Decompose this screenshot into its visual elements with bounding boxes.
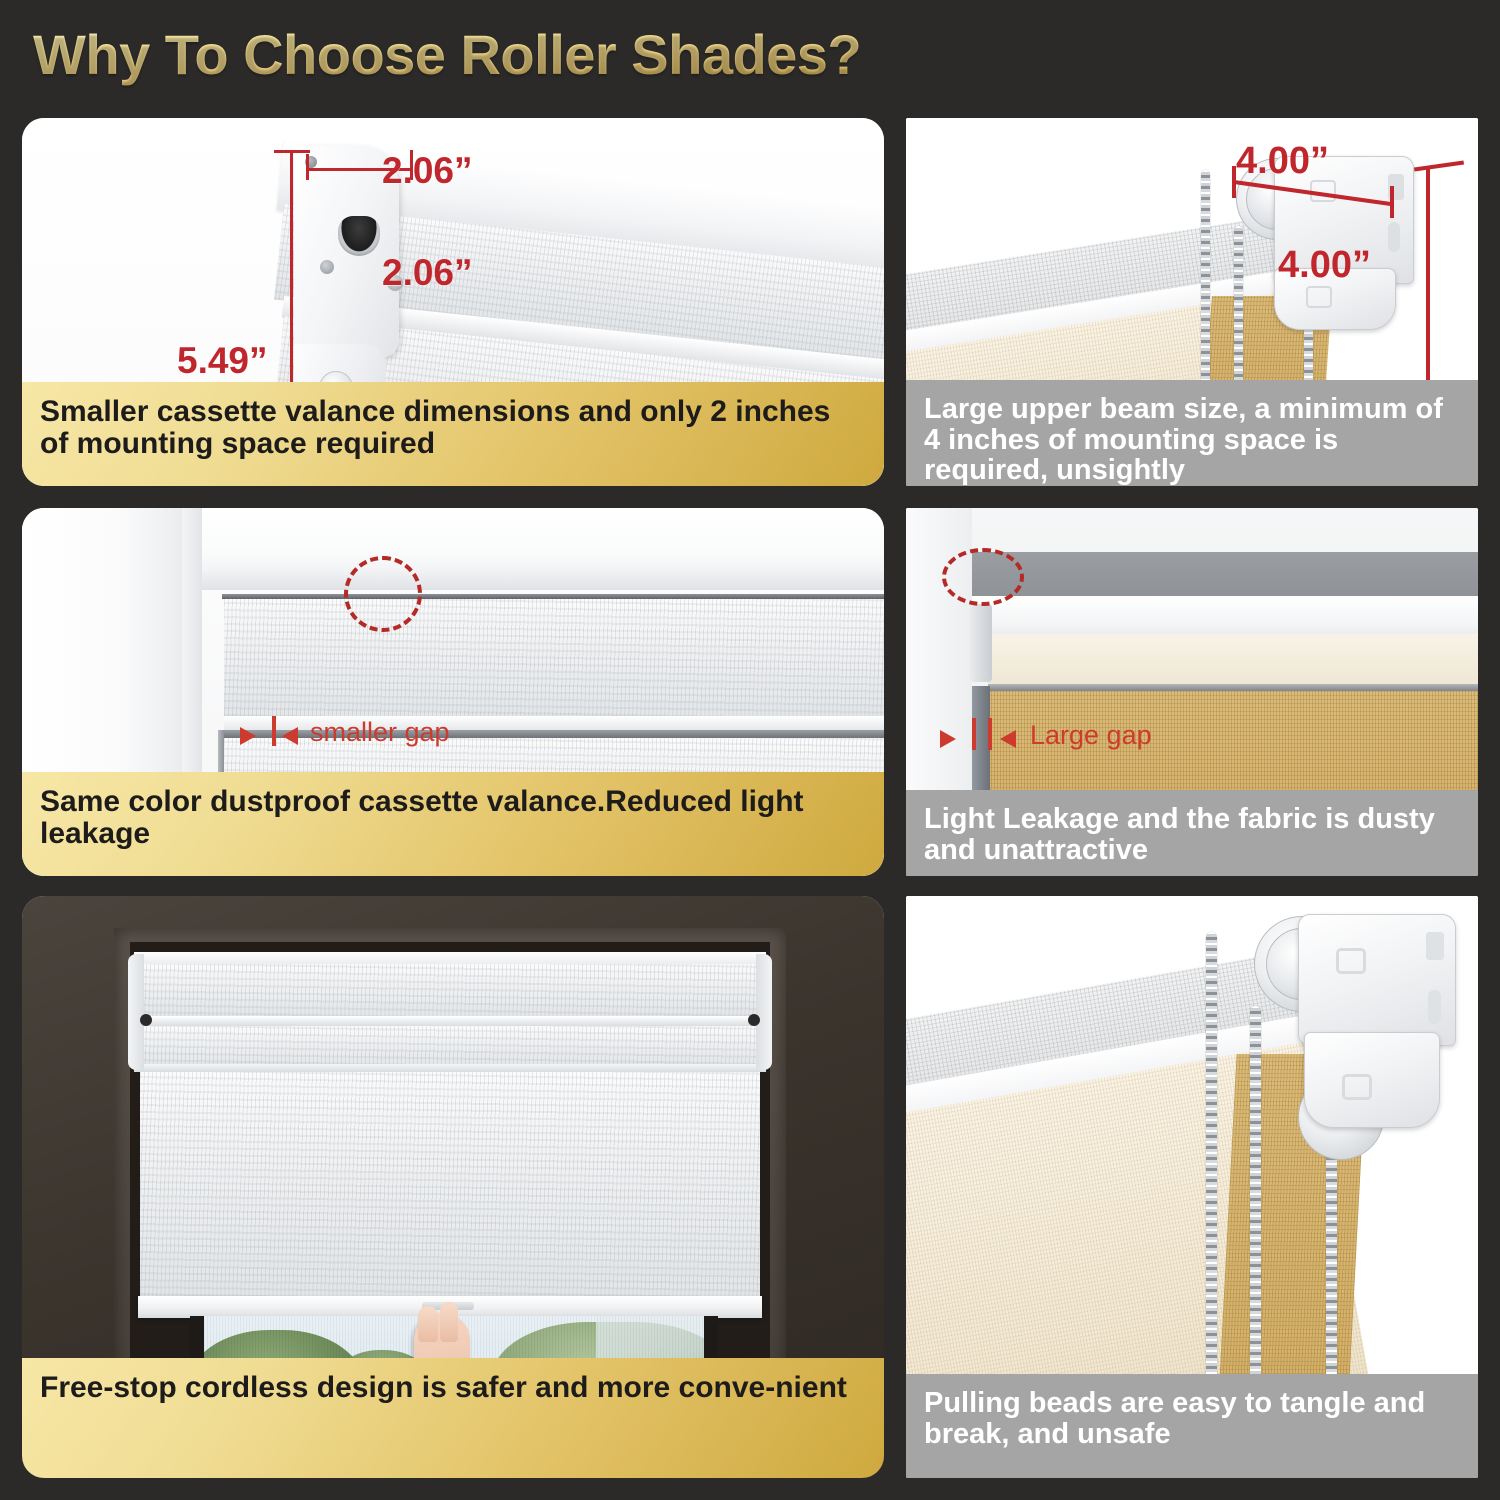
gap-callout-label: smaller gap <box>310 717 450 748</box>
panel-cassette-dimensions: 5.49” 2.06” 2.06” Smaller cassette valan… <box>22 118 884 486</box>
caption-dustproof-cassette: Same color dustproof cassette valance.Re… <box>22 772 884 876</box>
panel-dustproof-cassette: smaller gap Same color dustproof cassett… <box>22 508 884 876</box>
panel-light-leakage: Large gap Light Leakage and the fabric i… <box>906 508 1478 876</box>
caption-cordless-design: Free-stop cordless design is safer and m… <box>22 1358 884 1478</box>
page-title: Why To Choose Roller Shades? <box>33 22 861 87</box>
gap-arrow-right <box>282 727 298 745</box>
gap-arrow-left <box>240 727 256 745</box>
gap-arrow-right <box>1000 730 1016 748</box>
height-dimension-label: 5.49” <box>177 340 268 382</box>
width-dimension-label: 2.06” <box>382 252 473 294</box>
gap-callout-label: Large gap <box>1030 720 1152 751</box>
caption-pulling-beads: Pulling beads are easy to tangle and bre… <box>906 1374 1478 1478</box>
caption-large-upper-beam: Large upper beam size, a minimum of 4 in… <box>906 380 1478 486</box>
width-dimension-label-top: 2.06” <box>382 150 473 192</box>
panel-cordless-design: Free-stop cordless design is safer and m… <box>22 896 884 1478</box>
panel-pulling-beads: Pulling beads are easy to tangle and bre… <box>906 896 1478 1478</box>
gap-arrow-left <box>940 730 956 748</box>
beam-height-dimension-label: 4.00” <box>1278 244 1371 287</box>
panel-large-upper-beam: 4.00” 4.00” Large upper beam size, a min… <box>906 118 1478 486</box>
caption-cassette-dimensions: Smaller cassette valance dimensions and … <box>22 382 884 486</box>
caption-light-leakage: Light Leakage and the fabric is dusty an… <box>906 790 1478 876</box>
beam-width-dimension-label: 4.00” <box>1236 140 1329 183</box>
